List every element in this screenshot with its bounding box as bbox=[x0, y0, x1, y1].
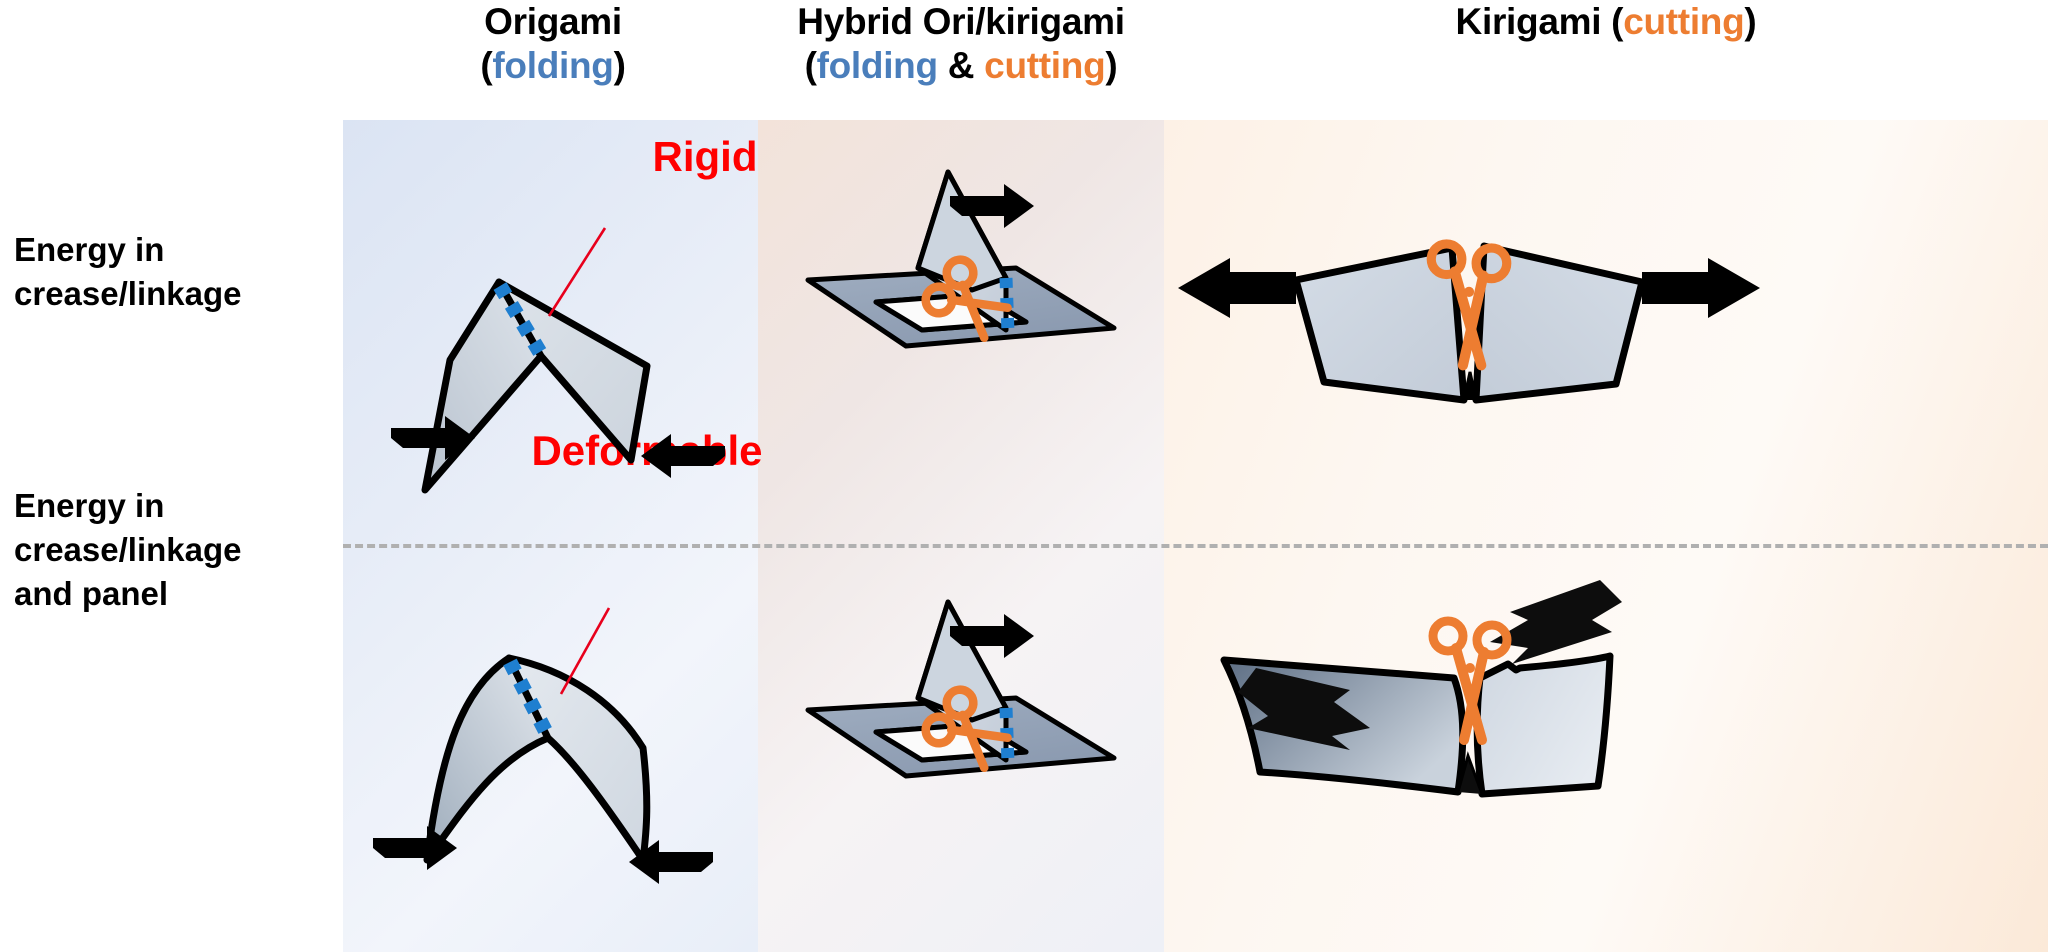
pointer-line-red bbox=[549, 228, 605, 316]
keyword-cutting: cutting bbox=[984, 45, 1105, 86]
row-label-rigid-line1: Energy in bbox=[14, 228, 344, 272]
illustration-hybrid-rigid bbox=[758, 160, 1164, 540]
column-header-hybrid: Hybrid Ori/kirigami (folding & cutting) bbox=[758, 0, 1164, 88]
pointer-line-red bbox=[561, 608, 609, 694]
column-headers: Origami (folding) Hybrid Ori/kirigami (f… bbox=[0, 0, 2048, 118]
hybrid-flap-side bbox=[918, 172, 1006, 290]
tension-arrow-right bbox=[1642, 258, 1760, 318]
paren-close: ) bbox=[1105, 45, 1117, 86]
paren-open: ( bbox=[480, 45, 492, 86]
keyword-cutting: cutting bbox=[1623, 1, 1744, 42]
load-arrow-right-diagonal bbox=[1490, 580, 1622, 664]
illustration-origami-rigid bbox=[343, 160, 758, 540]
paren-close: ) bbox=[1744, 1, 1756, 42]
keyword-folding: folding bbox=[817, 45, 938, 86]
illustration-origami-deformable bbox=[343, 560, 758, 952]
paren-open: ( bbox=[805, 45, 817, 86]
row-label-rigid: Energy in crease/linkage bbox=[14, 228, 344, 316]
illustration-hybrid-deformable bbox=[758, 560, 1164, 952]
column-header-hybrid-line2: (folding & cutting) bbox=[758, 44, 1164, 88]
hybrid-flap-side bbox=[918, 602, 1006, 720]
column-header-origami-line2: (folding) bbox=[348, 44, 758, 88]
load-arrow-right bbox=[641, 434, 725, 478]
keyword-ampersand: & bbox=[938, 45, 984, 86]
illustration-kirigami-rigid bbox=[1164, 160, 2048, 540]
row-label-deformable-line2: crease/linkage bbox=[14, 528, 344, 572]
paren-close: ) bbox=[614, 45, 626, 86]
column-header-kirigami-line1: Kirigami (cutting) bbox=[1164, 0, 2048, 44]
figure-root: Origami (folding) Hybrid Ori/kirigami (f… bbox=[0, 0, 2048, 952]
column-header-origami: Origami (folding) bbox=[348, 0, 758, 88]
keyword-folding: folding bbox=[492, 45, 613, 86]
row-divider-dashed-line bbox=[343, 544, 2048, 548]
column-header-kirigami: Kirigami (cutting) bbox=[1164, 0, 2048, 44]
column-header-origami-line1: Origami bbox=[348, 0, 758, 44]
row-label-deformable: Energy in crease/linkage and panel bbox=[14, 484, 344, 616]
paren-open: ( bbox=[1611, 1, 1623, 42]
tension-arrow-left bbox=[1178, 258, 1296, 318]
kirigami-panel-right-curved bbox=[1477, 656, 1610, 794]
row-label-deformable-line3: and panel bbox=[14, 572, 344, 616]
row-label-rigid-line2: crease/linkage bbox=[14, 272, 344, 316]
row-label-deformable-line1: Energy in bbox=[14, 484, 344, 528]
illustration-kirigami-deformable bbox=[1164, 560, 2048, 952]
kirigami-word: Kirigami bbox=[1456, 1, 1612, 42]
column-header-hybrid-line1: Hybrid Ori/kirigami bbox=[758, 0, 1164, 44]
